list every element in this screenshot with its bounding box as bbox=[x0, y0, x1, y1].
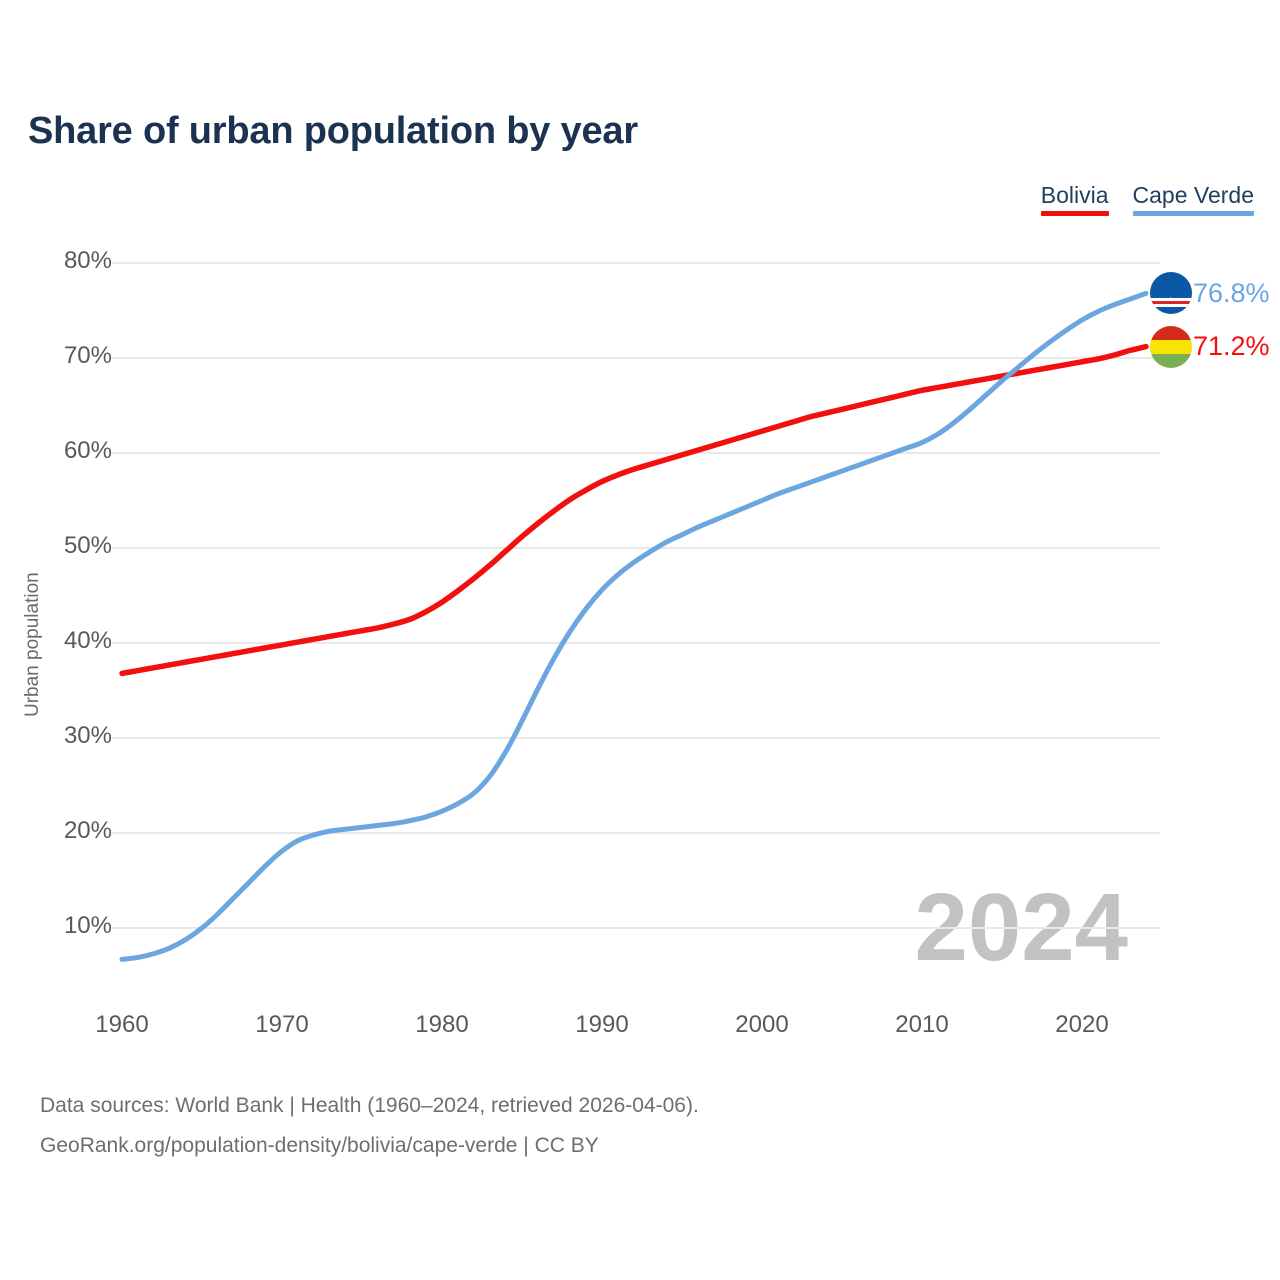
footer-line-1: Data sources: World Bank | Health (1960–… bbox=[40, 1086, 699, 1126]
chart-page: Share of urban population by year Bolivi… bbox=[0, 0, 1280, 1280]
endpoint-value-cape-verde: 76.8% bbox=[1193, 280, 1270, 307]
x-tick-label-2020: 2020 bbox=[1027, 1011, 1137, 1039]
x-tick-label-1970: 1970 bbox=[227, 1011, 337, 1039]
y-tick-label-30%: 30% bbox=[22, 722, 112, 750]
y-tick-label-50%: 50% bbox=[22, 532, 112, 560]
x-tick-label-2010: 2010 bbox=[867, 1011, 977, 1039]
endpoint-value-bolivia: 71.2% bbox=[1193, 333, 1270, 360]
bolivia-flag-icon bbox=[1150, 326, 1192, 368]
cape-verde-flag-icon bbox=[1150, 272, 1192, 314]
y-tick-label-40%: 40% bbox=[22, 627, 112, 655]
series-line-cape-verde bbox=[122, 293, 1146, 959]
endpoint-bolivia: 71.2% bbox=[1150, 326, 1270, 368]
y-tick-label-20%: 20% bbox=[22, 817, 112, 845]
y-tick-label-60%: 60% bbox=[22, 437, 112, 465]
series-line-bolivia bbox=[122, 347, 1146, 674]
footer-sources: Data sources: World Bank | Health (1960–… bbox=[40, 1086, 699, 1166]
y-tick-label-70%: 70% bbox=[22, 342, 112, 370]
endpoint-cape-verde: 76.8% bbox=[1150, 272, 1270, 314]
x-tick-label-1980: 1980 bbox=[387, 1011, 497, 1039]
y-tick-label-80%: 80% bbox=[22, 247, 112, 275]
x-tick-label-1960: 1960 bbox=[67, 1011, 177, 1039]
y-tick-label-10%: 10% bbox=[22, 912, 112, 940]
x-tick-label-1990: 1990 bbox=[547, 1011, 657, 1039]
x-tick-label-2000: 2000 bbox=[707, 1011, 817, 1039]
footer-line-2: GeoRank.org/population-density/bolivia/c… bbox=[40, 1126, 699, 1166]
